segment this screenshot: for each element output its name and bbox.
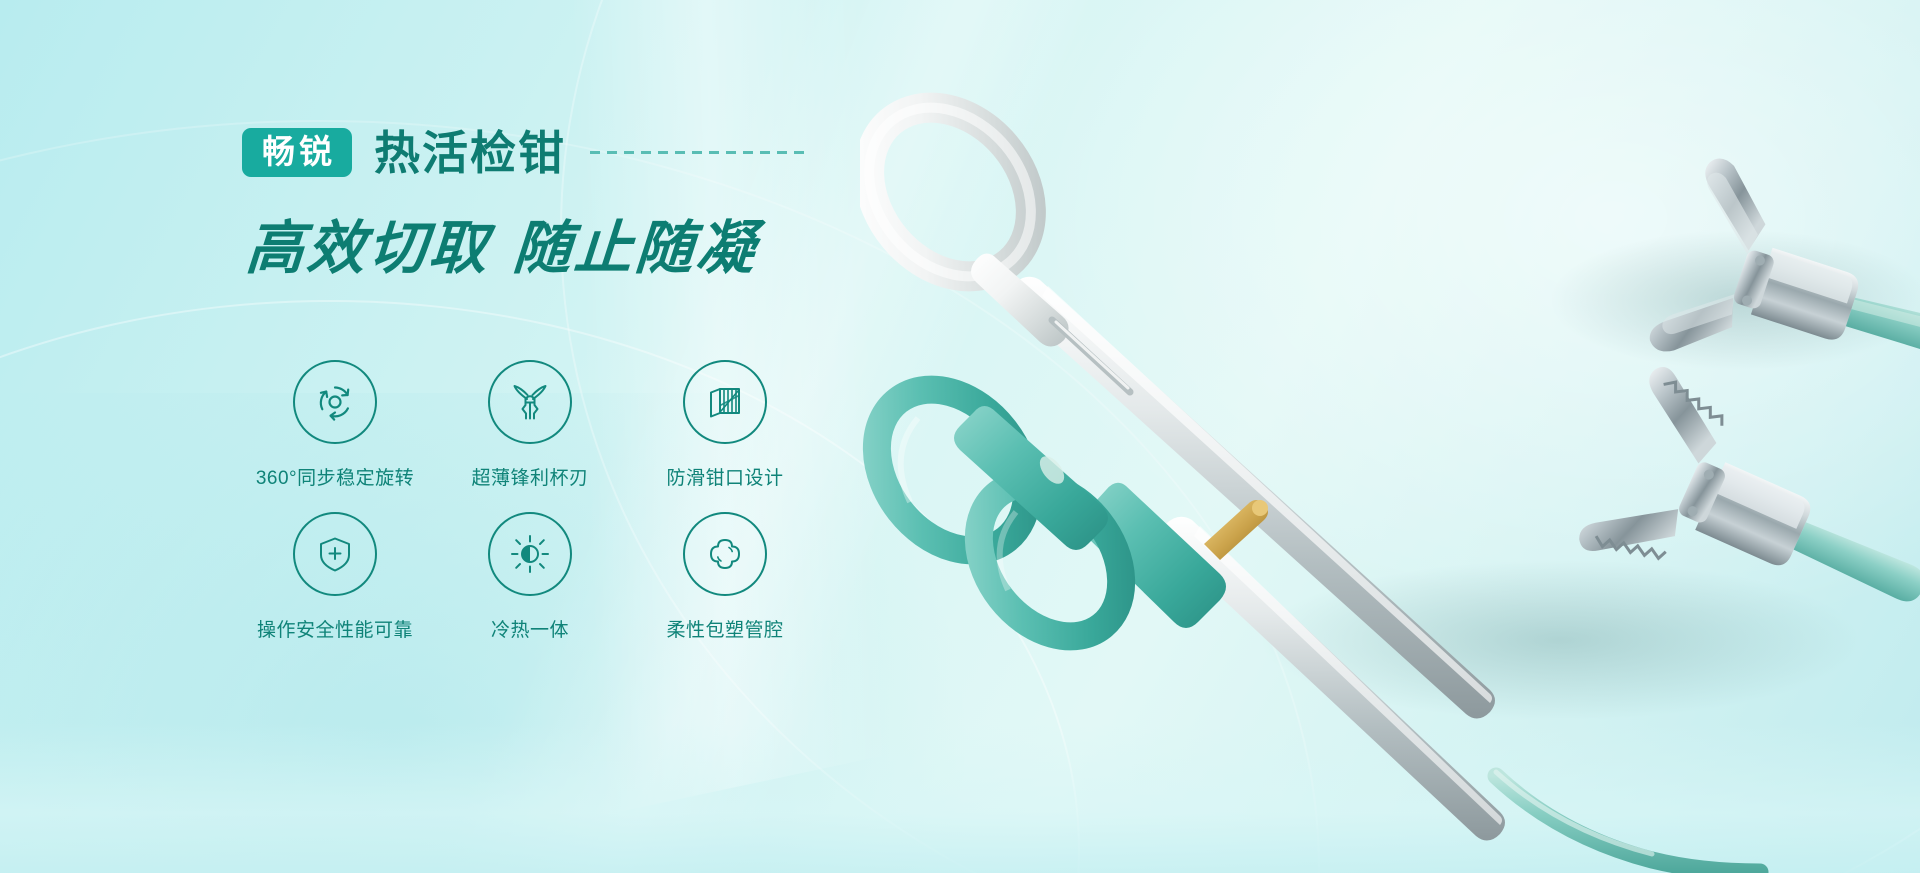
banner-content: 畅锐 热活检钳 高效切取 随止随凝	[0, 0, 900, 873]
feature-item-lumen: 柔性包塑管腔	[630, 512, 820, 664]
hot-cold-icon	[488, 512, 572, 596]
tagline: 高效切取 随止随凝	[244, 216, 760, 281]
dotted-leader-line	[590, 151, 810, 154]
feature-label: 操作安全性能可靠	[257, 615, 413, 642]
shield-plus-icon	[293, 512, 377, 596]
anti-slip-jaw-icon	[683, 360, 767, 444]
forceps-cups-icon	[488, 360, 572, 444]
flexible-lumen-icon	[683, 512, 767, 596]
feature-item-hot-cold: 冷热一体	[435, 512, 625, 664]
brand-badge: 畅锐	[242, 128, 352, 177]
feature-grid: 360°同步稳定旋转 超薄锋利杯刃	[240, 360, 820, 664]
feature-label: 超薄锋利杯刃	[471, 463, 588, 490]
product-banner: 畅锐 热活检钳 高效切取 随止随凝	[0, 0, 1920, 873]
feature-item-safety: 操作安全性能可靠	[240, 512, 430, 664]
title-row: 畅锐 热活检钳	[242, 128, 810, 177]
feature-label: 防滑钳口设计	[666, 463, 783, 490]
feature-item-jaw: 防滑钳口设计	[630, 360, 820, 512]
page-title: 热活检钳	[374, 130, 566, 176]
feature-item-rotation: 360°同步稳定旋转	[240, 360, 430, 512]
feature-label: 360°同步稳定旋转	[256, 463, 414, 490]
rotation-arrows-icon	[293, 360, 377, 444]
feature-item-cups: 超薄锋利杯刃	[435, 360, 625, 512]
feature-label: 冷热一体	[491, 615, 569, 642]
feature-label: 柔性包塑管腔	[666, 615, 783, 642]
product-photo-group	[860, 0, 1920, 873]
